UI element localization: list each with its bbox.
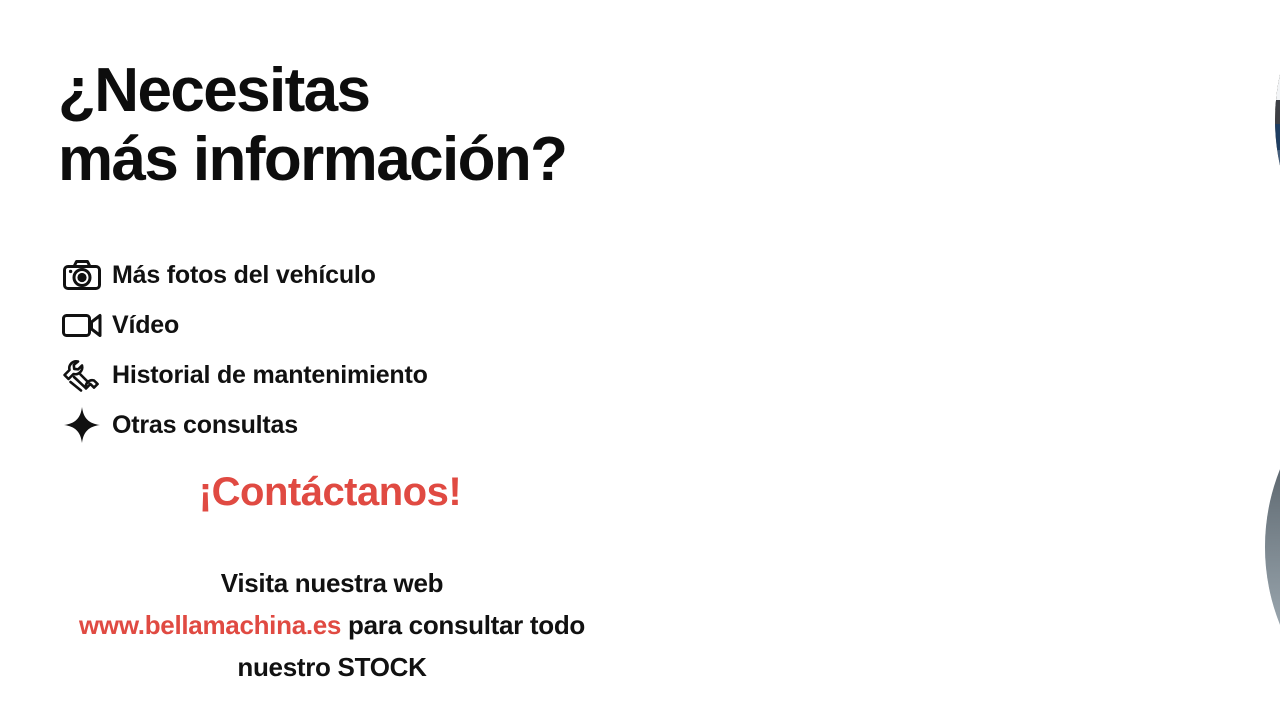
promo-banner: + + + + + + + + ⊥45 ⊥44 ⊥43 ⊥42 ⊥41 ⊥40 … — [0, 0, 1280, 720]
list-item: Más fotos del vehículo — [52, 250, 672, 300]
video-camera-icon — [52, 304, 112, 346]
list-item-label: Más fotos del vehículo — [112, 263, 376, 288]
website-url[interactable]: www.bellamachina.es — [79, 610, 341, 640]
wrench-tools-icon — [52, 354, 112, 396]
sparkle-icon — [52, 404, 112, 446]
footer-line-2: www.bellamachina.es para consultar todo — [0, 604, 664, 646]
list-item: Vídeo — [52, 300, 672, 350]
aerial-car-lot-photo: + + + + + + + + ⊥45 ⊥44 ⊥43 ⊥42 ⊥41 ⊥40 … — [1275, 0, 1280, 390]
footer-line-1: Visita nuestra web — [0, 562, 664, 604]
footer-text: Visita nuestra web www.bellamachina.es p… — [0, 562, 664, 688]
footer-line-3: nuestro STOCK — [0, 646, 664, 688]
list-item: Historial de mantenimiento — [52, 350, 672, 400]
text-column: ¿Necesitas más información? Más fotos de… — [0, 0, 700, 720]
list-item-label: Vídeo — [112, 313, 179, 338]
page-title: ¿Necesitas más información? — [58, 56, 698, 195]
contact-cta-text: ¡Contáctanos! — [199, 470, 461, 514]
feature-list: Más fotos del vehículo Vídeo — [52, 250, 672, 450]
list-item-label: Otras consultas — [112, 413, 298, 438]
image-collage: + + + + + + + + ⊥45 ⊥44 ⊥43 ⊥42 ⊥41 ⊥40 … — [620, 0, 1280, 720]
list-item-label: Historial de mantenimiento — [112, 363, 428, 388]
contact-cta: ¡Contáctanos! — [0, 470, 660, 515]
list-item: Otras consultas — [52, 400, 672, 450]
camera-icon — [52, 254, 112, 296]
footer-line-2-rest: para consultar todo — [341, 610, 585, 640]
